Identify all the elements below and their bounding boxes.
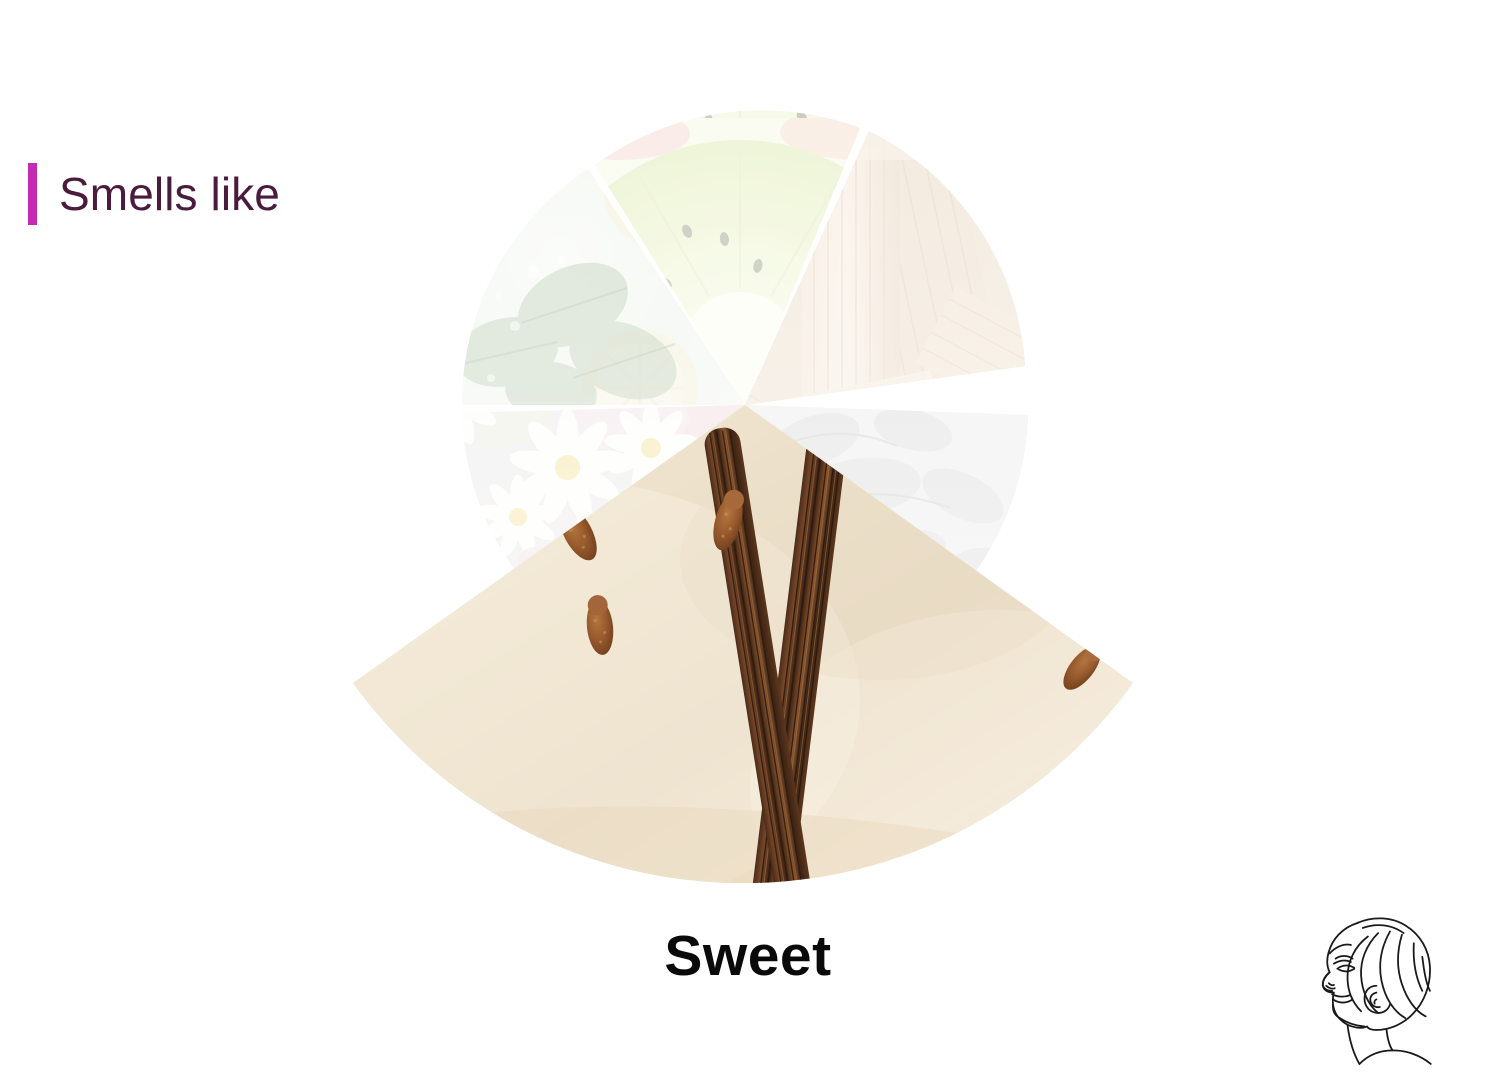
caption-label: Sweet [664,928,831,985]
wheel-slice-floral[interactable] [462,405,745,655]
cloves [549,487,1109,696]
wheel-slice-spicy[interactable] [745,405,1028,645]
selected-scent-caption: Sweet [0,928,1500,985]
vanilla-beans [702,419,849,940]
wheel-slice-sweet[interactable] [260,405,1250,1000]
page-header: Smells like [28,163,280,225]
page-title: Smells like [59,171,280,217]
sniffing-face-profile-icon [1288,897,1458,1072]
wheel-slices-faded [462,110,1028,655]
wheel-slice-fruity[interactable] [595,110,860,405]
scent-wheel-infographic: Smells like [0,0,1500,1092]
wheel-slice-fresh[interactable] [462,169,745,405]
accent-bar [28,163,37,225]
wheel-slice-woody[interactable] [745,131,1025,405]
